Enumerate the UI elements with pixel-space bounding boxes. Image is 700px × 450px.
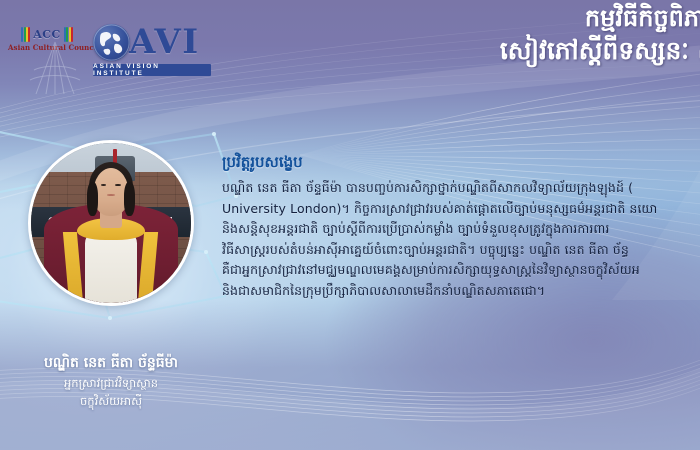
acc-watermark-icon (22, 40, 88, 96)
speaker-name: បណ្ឌិត នេត ធីតា ច័ន្ទធីម៉ា (0, 352, 222, 374)
program-title-line-1: កម្មវិធីកិច្ចពិភាក (270, 2, 700, 34)
portrait-photo: CITY OF LONDON (31, 143, 191, 303)
avi-full-name: ASIAN VISION INSTITUTE (93, 63, 211, 77)
biography-panel: ប្រវិត្តរូបសង្ខេប បណ្ឌិត នេត ធីតា ច័ន្ទធ… (222, 150, 700, 301)
portrait-circle-frame: CITY OF LONDON (28, 140, 194, 306)
acc-right-bracket-icon (64, 27, 73, 42)
acc-left-bracket-icon (21, 27, 30, 42)
program-title: កម្មវិធីកិច្ចពិភាក សៀវភៅស្តីពីទស្សនៈ សម្… (270, 2, 700, 68)
biography-line: University London)។ កិច្ចការស្រាវជ្រាវរប… (222, 199, 700, 220)
speaker-caption: បណ្ឌិត នេត ធីតា ច័ន្ទធីម៉ា អ្នកស្រាវជ្រា… (0, 352, 222, 410)
biography-line: និងសន្តិសុខអន្តរជាតិ ច្បាប់ស្តីពីការប្រើ… (222, 219, 700, 240)
speaker-role-line-2: ចក្ខុវិស័យអាស៊ី (0, 392, 222, 410)
avi-abbr: AVI (129, 25, 200, 59)
acc-logo[interactable]: ACC Asian Cultural Council (8, 26, 86, 52)
biography-line: និងជាសមាជិកនៃក្រុមប្រឹក្សាភិបាលសាលាមេដឹក… (222, 281, 700, 302)
biography-text: បណ្ឌិត នេត ធីតា ច័ន្ទធីម៉ា បានបញ្ចប់ការស… (222, 178, 700, 301)
slide-canvas: ACC Asian Cultural Council (0, 0, 700, 450)
photo-graduate (31, 204, 191, 303)
avi-logo-top: AVI (93, 22, 213, 62)
speaker-role-line-1: អ្នកស្រាវជ្រាវវិទ្យាស្ថាន (0, 374, 222, 392)
photo-hair-right (124, 182, 135, 216)
avi-logo[interactable]: AVI ASIAN VISION INSTITUTE (93, 22, 213, 76)
globe-icon (93, 24, 130, 61)
program-title-line-2: សៀវភៅស្តីពីទស្សនៈ សម្តេច ហ៊ុន សែ (270, 34, 700, 68)
biography-line: គឺជាអ្នកស្រាវជ្រាវនៅមជ្ឈមណ្ឌលមេគង្គសម្រា… (222, 260, 700, 281)
photo-hair-left (87, 182, 98, 216)
biography-line: បណ្ឌិត នេត ធីតា ច័ន្ទធីម៉ា បានបញ្ចប់ការស… (222, 178, 700, 199)
acc-abbr: ACC (33, 28, 61, 41)
photo-mouth (107, 194, 115, 196)
biography-line: វិធីសាស្ត្ររបស់តំបន់អាស៊ីអាគ្នេយ៍ចំពោះច្… (222, 240, 700, 261)
avi-name-bar: ASIAN VISION INSTITUTE (93, 64, 211, 76)
biography-heading: ប្រវិត្តរូបសង្ខេប (222, 150, 700, 174)
speaker-portrait: CITY OF LONDON (28, 140, 194, 306)
